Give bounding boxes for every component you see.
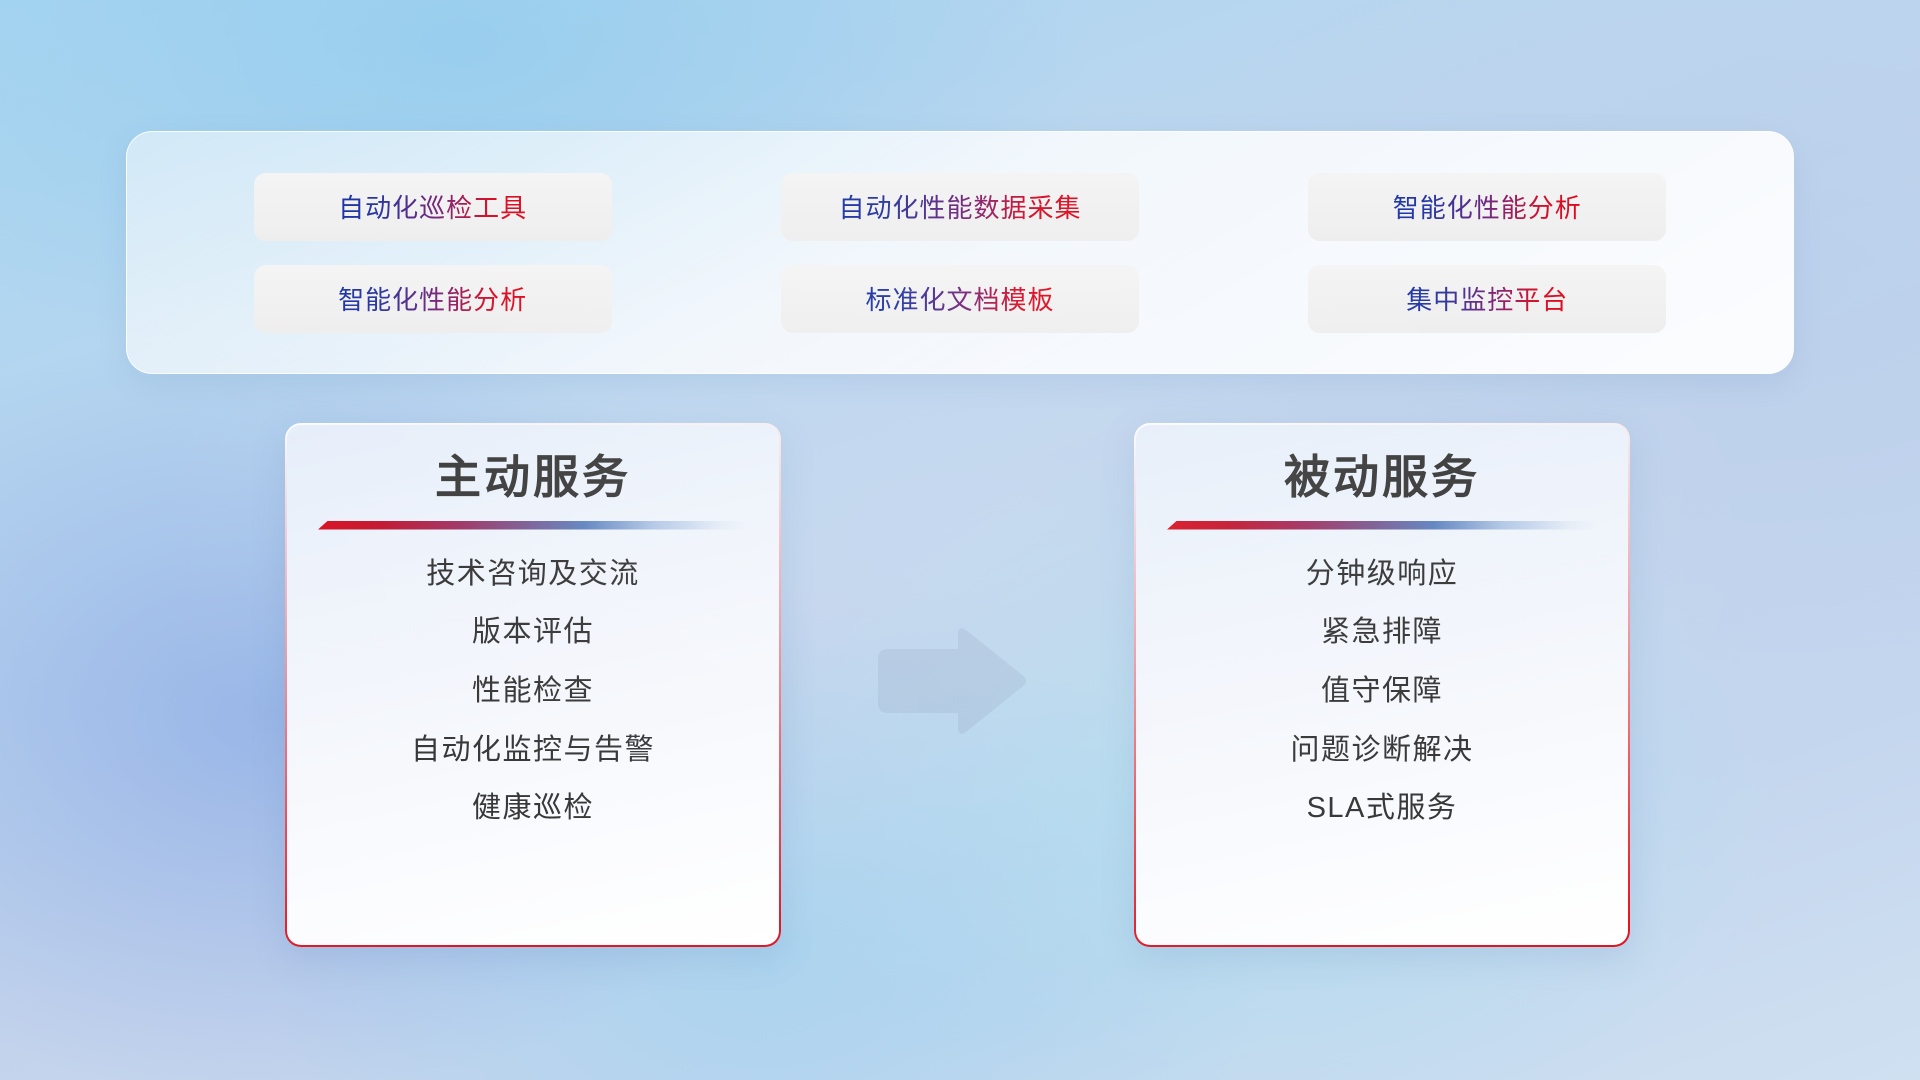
capability-tags-panel: 自动化巡检工具 自动化性能数据采集 智能化性能分析 智能化性能分析 (126, 131, 1794, 374)
service-card-reactive[interactable]: 被动服务 分钟级响应 紧急排障 值守保障 问题诊断解决 SLA式服务 (1134, 423, 1630, 947)
capability-tag[interactable]: 集中监控平台 (1308, 265, 1666, 333)
service-item-list: 技术咨询及交流 版本评估 性能检查 自动化监控与告警 健康巡检 (287, 556, 779, 828)
service-list-item: 技术咨询及交流 (426, 556, 640, 594)
service-list-item: 自动化监控与告警 (411, 732, 655, 770)
service-list-item: 问题诊断解决 (1290, 732, 1473, 770)
capability-tag-surface: 集中监控平台 (1308, 265, 1666, 333)
service-list-item: 紧急排障 (1321, 614, 1443, 652)
service-item-list: 分钟级响应 紧急排障 值守保障 问题诊断解决 SLA式服务 (1136, 556, 1628, 828)
capability-tag-surface: 智能化性能分析 (1308, 173, 1666, 241)
service-card-title: 被动服务 (1284, 449, 1480, 507)
capability-tag-surface: 智能化性能分析 (254, 265, 612, 333)
service-card-proactive[interactable]: 主动服务 技术咨询及交流 版本评估 性能检查 自动化监控与告警 健康巡检 (285, 423, 781, 947)
service-list-item: SLA式服务 (1307, 790, 1458, 828)
capability-tag[interactable]: 自动化性能数据采集 (781, 173, 1139, 241)
capability-tag[interactable]: 智能化性能分析 (254, 265, 612, 333)
capability-tag-surface: 自动化性能数据采集 (781, 173, 1139, 241)
slide-canvas: 自动化巡检工具 自动化性能数据采集 智能化性能分析 智能化性能分析 (0, 0, 1920, 1080)
service-card-title: 主动服务 (435, 449, 631, 507)
capability-tag-grid: 自动化巡检工具 自动化性能数据采集 智能化性能分析 智能化性能分析 (127, 173, 1793, 333)
service-list-item: 值守保障 (1321, 673, 1443, 711)
capability-tag-label: 自动化巡检工具 (338, 188, 527, 225)
capability-tag-label: 智能化性能分析 (1393, 188, 1582, 225)
capability-tag-label: 智能化性能分析 (338, 280, 527, 317)
capability-tag[interactable]: 智能化性能分析 (1308, 173, 1666, 241)
capability-tag[interactable]: 自动化巡检工具 (254, 173, 612, 241)
capability-tag[interactable]: 标准化文档模板 (781, 265, 1139, 333)
title-divider (1167, 521, 1597, 530)
capability-tag-label: 标准化文档模板 (865, 280, 1054, 317)
flow-arrow-right-icon (872, 625, 1030, 737)
service-list-item: 健康巡检 (472, 790, 594, 828)
service-card-body: 被动服务 分钟级响应 紧急排障 值守保障 问题诊断解决 SLA式服务 (1136, 425, 1628, 945)
capability-tag-surface: 标准化文档模板 (781, 265, 1139, 333)
service-card-body: 主动服务 技术咨询及交流 版本评估 性能检查 自动化监控与告警 健康巡检 (287, 425, 779, 945)
capability-tag-label: 自动化性能数据采集 (838, 188, 1081, 225)
capability-tag-surface: 自动化巡检工具 (254, 173, 612, 241)
title-divider (318, 521, 748, 530)
service-list-item: 分钟级响应 (1306, 556, 1459, 594)
service-list-item: 版本评估 (472, 614, 594, 652)
capability-tag-label: 集中监控平台 (1406, 280, 1568, 317)
service-list-item: 性能检查 (472, 673, 594, 711)
